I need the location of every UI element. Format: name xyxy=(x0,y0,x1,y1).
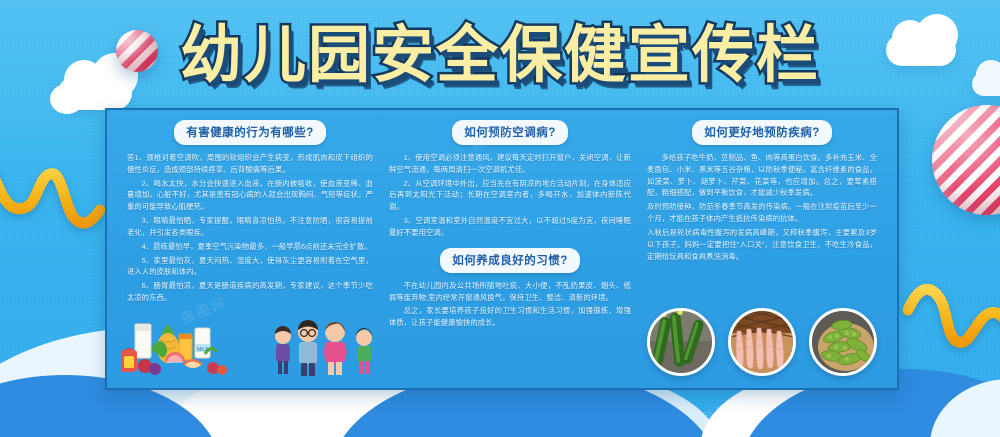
body-air-conditioner: 1、使用空调必须注意通风，建议每天定时打开窗户，关闭空调，让新鲜空气流通，每两周… xyxy=(389,152,631,239)
heading-good-habits: 如何养成良好的习惯? xyxy=(440,248,580,273)
cucumber-photo xyxy=(647,308,715,376)
paragraph: 答1、颈椎对着空调吹，周围的软组织会产生病变，形成肌肉和皮下组织的慢性炎症，造成… xyxy=(127,152,373,176)
paragraph: 2、从空调环境中外出，应当先在有阴凉的地方活动片刻，在身体适应后再到太阳光下活动… xyxy=(389,178,631,213)
column-disease-prevention: 如何更好地预防疾病? 多给孩子吃牛奶、豆制品、鱼、肉等高蛋白饮食。多补充玉米、全… xyxy=(639,120,885,380)
poster-canvas: 幼儿园安全保健宣传栏 有害健康的行为有哪些? 答1、颈椎对着空调吹，周围的软组织… xyxy=(0,0,1000,437)
content-panel: 有害健康的行为有哪些? 答1、颈椎对着空调吹，周围的软组织会产生病变，形成肌肉和… xyxy=(105,108,899,390)
body-harmful-behaviors: 答1、颈椎对着空调吹，周围的软组织会产生病变，形成肌肉和皮下组织的慢性炎症，造成… xyxy=(127,152,373,304)
paragraph: 4、晨练最怕早，夏季空气污染物最多，一般早晨6点前还未完全扩散。 xyxy=(127,241,373,253)
paragraph: 及时预防接种，防范冬春季节高发的传染病。一般在注射疫苗后至少一个月，才能在孩子体… xyxy=(647,201,877,225)
column-harmful-behaviors: 有害健康的行为有哪些? 答1、颈椎对着空调吹，周围的软组织会产生病变，形成肌肉和… xyxy=(119,120,381,380)
paragraph: 5、家里最怕灰，夏天闷热、湿度大，使得灰尘更容易附着在空气里，进入人的皮肤和体内… xyxy=(127,255,373,279)
paragraph: 总之，家长要培养孩子良好的卫生习惯和生活习惯，加强锻炼，增强体质，让孩子能健康愉… xyxy=(389,305,631,329)
heading-harmful-behaviors: 有害健康的行为有哪些? xyxy=(174,120,326,145)
paragraph: 3、空调室温和室外自然温度不宜过大，以不超过5度为宜，夜间睡眠最好不要用空调。 xyxy=(389,215,631,239)
body-good-habits: 不在幼儿园内及公共场所随地吐痰、大小便，不乱扔果皮、烟头、纸屑等废弃物;室内经常… xyxy=(389,280,631,329)
paragraph: 3、眼睛最怕晒，专家提醒，眼睛喜凉怕热，不注意防晒，很容易提前老化，并引发各类眼… xyxy=(127,215,373,239)
family-of-four-illustration xyxy=(269,318,381,378)
paragraph: 不在幼儿园内及公共场所随地吐痰、大小便，不乱扔果皮、烟头、纸屑等废弃物;室内经常… xyxy=(389,280,631,304)
body-disease-prevention: 多给孩子吃牛奶、豆制品、鱼、肉等高蛋白饮食。多补充玉米、全麦面包、小米、黑米等五… xyxy=(647,152,877,262)
paragraph: 2、喝水太快，水分会快速进入血液，在肠内被吸收，使血液变稀、血量增加，心脏不好，… xyxy=(127,178,373,213)
ribbon-right xyxy=(902,276,1000,376)
column-air-conditioner: 如何预防空调病? 1、使用空调必须注意通风，建议每天定时打开窗户，关闭空调，让新… xyxy=(381,120,639,380)
page-title: 幼儿园安全保健宣传栏 xyxy=(0,24,1000,86)
columns-container: 有害健康的行为有哪些? 答1、颈椎对着空调吹，周围的软组织会产生病变，形成肌肉和… xyxy=(107,110,897,388)
paragraph: 1、使用空调必须注意通风，建议每天定时打开窗户，关闭空调，让新鲜空气流通，每两周… xyxy=(389,152,631,176)
paragraph: 6、肠胃最怕凉，夏天是肠道疾病的高发期，专家建议，这个季节少吃太凉的东西。 xyxy=(127,280,373,304)
edamame-photo xyxy=(809,308,877,376)
page-title-text: 幼儿园安全保健宣传栏 xyxy=(180,24,820,86)
shrimp-photo xyxy=(728,308,796,376)
food-photo-row xyxy=(647,308,877,376)
paragraph: 入秋后是轮状病毒性腹泻的发病高峰期，又称秋季腹泻，主要累及3岁以下孩子。妈妈一定… xyxy=(647,227,877,262)
striped-ball-right xyxy=(932,105,1000,215)
paragraph: 多给孩子吃牛奶、豆制品、鱼、肉等高蛋白饮食。多补充玉米、全麦面包、小米、黑米等五… xyxy=(647,152,877,199)
ribbon-left xyxy=(0,148,118,258)
heading-air-conditioner: 如何预防空调病? xyxy=(452,120,568,145)
heading-disease-prevention: 如何更好地预防疾病? xyxy=(692,120,832,145)
fruits-milk-juice-illustration: MILK xyxy=(121,320,239,378)
